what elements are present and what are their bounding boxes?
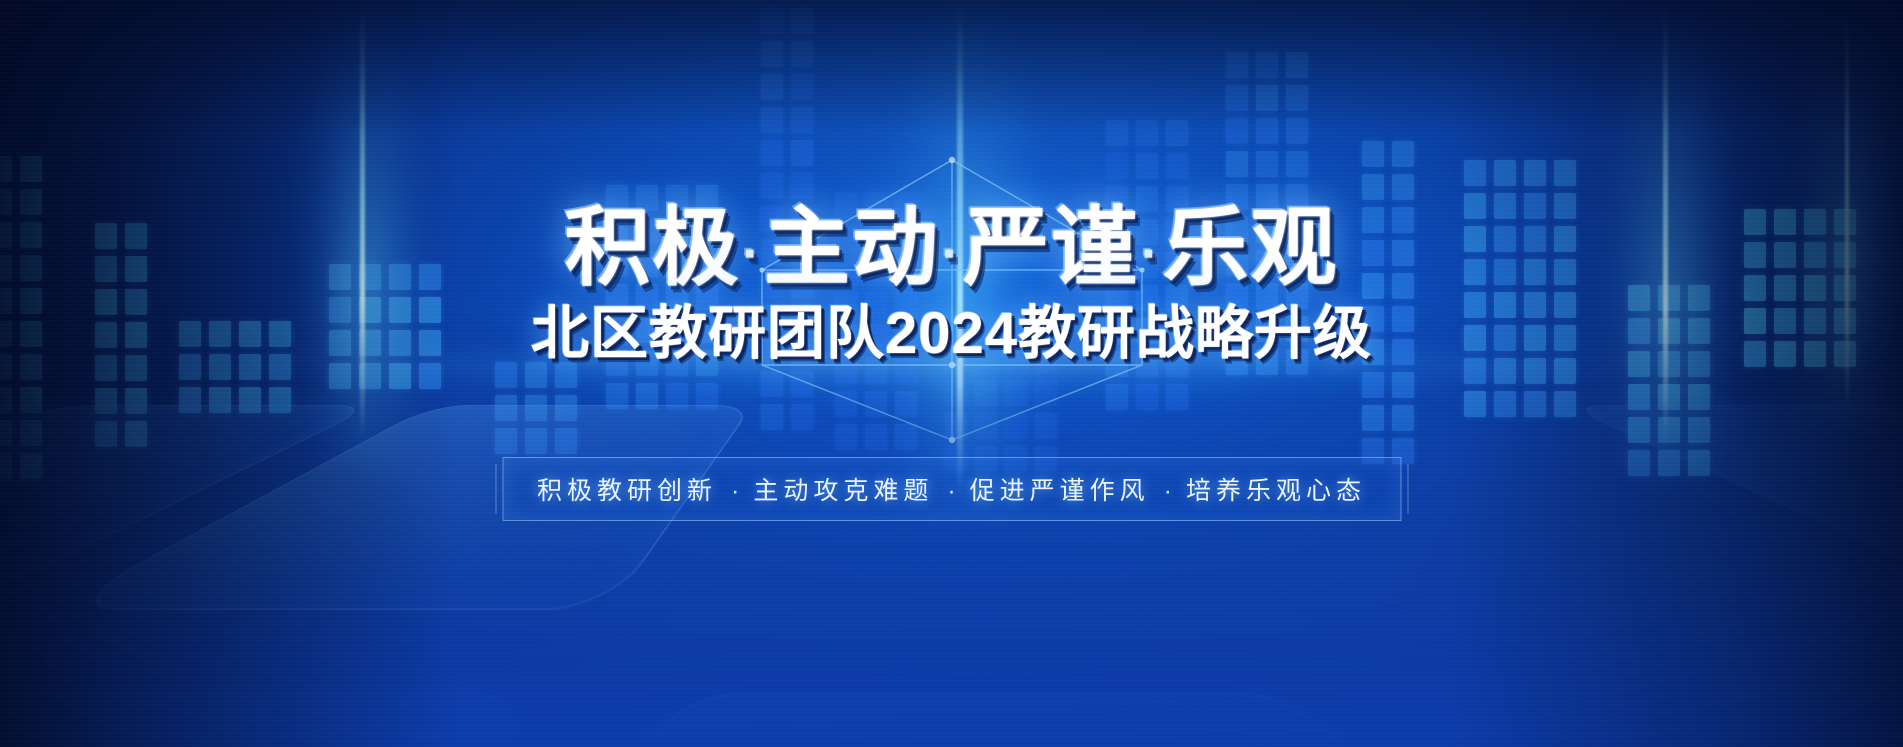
skyline-block bbox=[1256, 151, 1278, 177]
skyline-block bbox=[1392, 174, 1414, 200]
skyline-block bbox=[1166, 252, 1188, 278]
skyline-block bbox=[1166, 153, 1188, 179]
skyline-block bbox=[1256, 217, 1278, 243]
skyline-block bbox=[606, 284, 628, 310]
skyline-block bbox=[0, 288, 12, 314]
skyline-block bbox=[1744, 275, 1766, 301]
skyline-block bbox=[1524, 193, 1546, 219]
skyline-block bbox=[20, 255, 42, 281]
slogan-item: 培养乐观心态 bbox=[1186, 477, 1366, 505]
slogan-separator: · bbox=[717, 477, 753, 505]
floor-tile bbox=[0, 692, 550, 747]
skyline-block bbox=[1286, 52, 1308, 78]
slogan-separator: · bbox=[1150, 477, 1186, 505]
slogan-separator: · bbox=[933, 477, 969, 505]
skyline-block bbox=[0, 255, 12, 281]
skyline-block bbox=[20, 222, 42, 248]
perspective-floor bbox=[0, 317, 1903, 747]
skyline-block bbox=[1226, 184, 1248, 210]
skyline-block bbox=[606, 251, 628, 277]
skyline-block bbox=[636, 284, 658, 310]
skyline-block bbox=[1494, 259, 1516, 285]
slogan-text: 积极教研创新·主动攻克难题·促进严谨作风·培养乐观心态 bbox=[537, 471, 1366, 507]
skyline-block bbox=[95, 223, 117, 249]
skyline-block bbox=[636, 251, 658, 277]
skyline-block bbox=[1464, 292, 1486, 318]
skyline-block bbox=[696, 251, 718, 277]
skyline-block bbox=[1554, 160, 1576, 186]
skyline-block bbox=[20, 156, 42, 182]
skyline-block bbox=[1286, 85, 1308, 111]
skyline-block bbox=[1166, 285, 1188, 311]
skyline-block bbox=[761, 8, 783, 34]
slogan-item: 积极教研创新 bbox=[537, 477, 717, 505]
skyline-block bbox=[1392, 273, 1414, 299]
skyline-block bbox=[1286, 250, 1308, 276]
skyline-block bbox=[1256, 184, 1278, 210]
skyline-block bbox=[636, 185, 658, 211]
skyline-block bbox=[1256, 250, 1278, 276]
skyline-block bbox=[1362, 240, 1384, 266]
skyline-block bbox=[1494, 193, 1516, 219]
skyline-block bbox=[1256, 118, 1278, 144]
skyline-block bbox=[1286, 118, 1308, 144]
skyline-block bbox=[1226, 118, 1248, 144]
skyline-block bbox=[0, 189, 12, 215]
skyline-block bbox=[1286, 184, 1308, 210]
skyline-block bbox=[1464, 193, 1486, 219]
skyline-block bbox=[1226, 250, 1248, 276]
skyline-block bbox=[636, 218, 658, 244]
skyline-block bbox=[1494, 226, 1516, 252]
skyline-block bbox=[1464, 226, 1486, 252]
skyline-block bbox=[1226, 52, 1248, 78]
skyline-block bbox=[95, 289, 117, 315]
slogan-item: 促进严谨作风 bbox=[970, 477, 1150, 505]
skyline-block bbox=[1524, 292, 1546, 318]
skyline-block bbox=[696, 218, 718, 244]
skyline-block bbox=[1524, 259, 1546, 285]
skyline-block bbox=[1362, 273, 1384, 299]
skyline-block bbox=[1362, 141, 1384, 167]
skyline-block bbox=[761, 107, 783, 133]
skyline-block bbox=[95, 256, 117, 282]
skyline-block bbox=[1744, 242, 1766, 268]
skyline-block bbox=[1464, 160, 1486, 186]
skyline-block bbox=[791, 8, 813, 34]
skyline-block bbox=[1554, 193, 1576, 219]
skyline-block bbox=[666, 185, 688, 211]
skyline-block bbox=[1106, 120, 1128, 146]
skyline-block bbox=[1554, 292, 1576, 318]
slogan-item: 主动攻克难题 bbox=[753, 477, 933, 505]
skyline-block bbox=[761, 74, 783, 100]
skyline-block bbox=[606, 218, 628, 244]
skyline-block bbox=[125, 289, 147, 315]
skyline-block bbox=[1166, 186, 1188, 212]
skyline-block bbox=[1286, 151, 1308, 177]
skyline-block bbox=[1392, 240, 1414, 266]
skyline-block bbox=[666, 218, 688, 244]
skyline-block bbox=[1226, 85, 1248, 111]
skyline-block bbox=[1286, 283, 1308, 309]
floor-tile bbox=[1565, 405, 1903, 610]
skyline-block bbox=[1362, 207, 1384, 233]
skyline-block bbox=[1464, 259, 1486, 285]
skyline-block bbox=[1744, 209, 1766, 235]
skyline-block bbox=[1166, 219, 1188, 245]
skyline-block bbox=[1554, 259, 1576, 285]
skyline-block bbox=[1226, 217, 1248, 243]
skyline-block bbox=[0, 222, 12, 248]
skyline-block bbox=[1524, 160, 1546, 186]
skyline-block bbox=[20, 189, 42, 215]
skyline-block bbox=[791, 107, 813, 133]
skyline-block bbox=[1256, 283, 1278, 309]
skyline-block bbox=[606, 185, 628, 211]
skyline-block bbox=[125, 223, 147, 249]
skyline-block bbox=[696, 185, 718, 211]
skyline-block bbox=[1392, 207, 1414, 233]
skyline-block bbox=[666, 284, 688, 310]
skyline-block bbox=[1494, 160, 1516, 186]
skyline-block bbox=[791, 74, 813, 100]
skyline-block bbox=[761, 41, 783, 67]
skyline-block bbox=[1136, 120, 1158, 146]
skyline-block bbox=[666, 251, 688, 277]
skyline-block bbox=[125, 256, 147, 282]
skyline-block bbox=[1226, 151, 1248, 177]
skyline-block bbox=[1524, 226, 1546, 252]
skyline-block bbox=[1554, 226, 1576, 252]
skyline-block bbox=[1362, 174, 1384, 200]
skyline-block bbox=[1166, 120, 1188, 146]
slogan-bar: 积极教研创新·主动攻克难题·促进严谨作风·培养乐观心态 bbox=[502, 457, 1401, 521]
skyline-block bbox=[791, 41, 813, 67]
event-banner: 积极·主动·严谨·乐观 北区教研团队2024教研战略升级 积极教研创新·主动攻克… bbox=[0, 0, 1903, 747]
skyline-block bbox=[0, 156, 12, 182]
skyline-block bbox=[1494, 292, 1516, 318]
skyline-block bbox=[1392, 141, 1414, 167]
skyline-block bbox=[1286, 217, 1308, 243]
skyline-block bbox=[20, 288, 42, 314]
skyline-block bbox=[696, 284, 718, 310]
skyline-block bbox=[1256, 85, 1278, 111]
skyline-block bbox=[1256, 52, 1278, 78]
skyline-block bbox=[1226, 283, 1248, 309]
